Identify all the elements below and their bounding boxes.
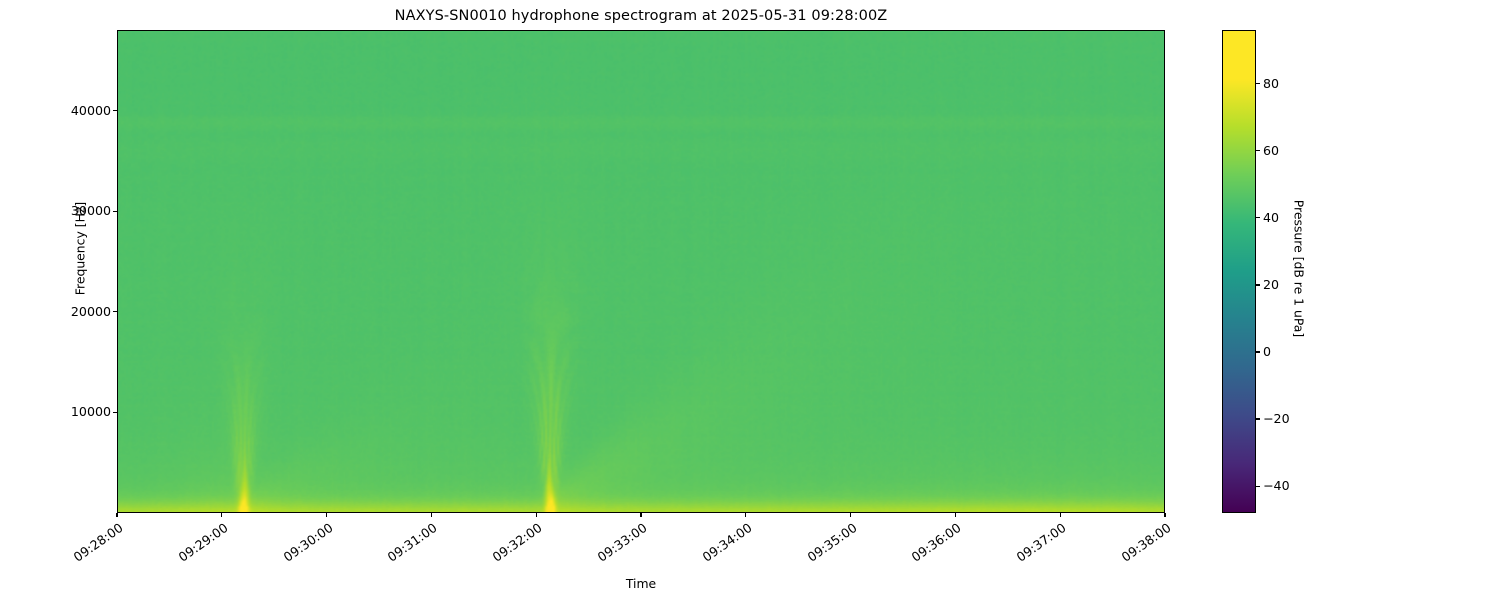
x-tick-label: 09:29:00	[158, 520, 230, 577]
colorbar-tick-label: 40	[1263, 209, 1279, 227]
spectrogram-image	[118, 31, 1164, 512]
y-tick-mark	[113, 412, 117, 413]
x-tick-mark	[116, 513, 117, 517]
colorbar-tick-mark	[1256, 83, 1260, 84]
x-tick-mark	[955, 513, 956, 517]
x-tick-label: 09:34:00	[682, 520, 754, 577]
x-tick-label: 09:36:00	[891, 520, 963, 577]
colorbar-label-wrap: Pressure [dB re 1 uPa]	[1290, 30, 1310, 513]
colorbar[interactable]	[1222, 30, 1256, 513]
colorbar-tick-mark	[1256, 486, 1260, 487]
x-tick-label: 09:38:00	[1101, 520, 1173, 577]
spectrogram-figure: NAXYS-SN0010 hydrophone spectrogram at 2…	[0, 0, 1500, 600]
x-tick-mark	[1060, 513, 1061, 517]
x-tick-mark	[536, 513, 537, 517]
colorbar-tick-mark	[1256, 418, 1260, 419]
x-tick-label: 09:35:00	[787, 520, 859, 577]
x-tick-mark	[431, 513, 432, 517]
y-tick-mark	[113, 211, 117, 212]
spectrogram-plot-area[interactable]	[117, 30, 1165, 513]
colorbar-tick-label: 20	[1263, 276, 1279, 294]
x-tick-label: 09:33:00	[577, 520, 649, 577]
x-tick-mark	[326, 513, 327, 517]
y-axis-label: Frequency [Hz]	[73, 19, 88, 479]
colorbar-tick-label: 80	[1263, 75, 1279, 93]
y-tick-mark	[113, 110, 117, 111]
colorbar-label: Pressure [dB re 1 uPa]	[1292, 39, 1307, 499]
colorbar-tick-label: −40	[1263, 477, 1290, 495]
colorbar-gradient	[1222, 30, 1256, 513]
x-tick-mark	[745, 513, 746, 517]
x-tick-label: 09:30:00	[263, 520, 335, 577]
y-axis-label-wrap: Frequency [Hz]	[46, 30, 66, 513]
x-tick-mark	[221, 513, 222, 517]
x-tick-label: 09:31:00	[367, 520, 439, 577]
x-tick-label: 09:32:00	[472, 520, 544, 577]
colorbar-tick-mark	[1256, 284, 1260, 285]
x-axis-label: Time	[117, 576, 1165, 591]
colorbar-tick-label: −20	[1263, 410, 1290, 428]
colorbar-tick-label: 0	[1263, 343, 1271, 361]
x-tick-mark	[640, 513, 641, 517]
colorbar-tick-mark	[1256, 351, 1260, 352]
colorbar-tick-mark	[1256, 217, 1260, 218]
y-tick-mark	[113, 311, 117, 312]
x-tick-label: 09:37:00	[996, 520, 1068, 577]
x-tick-mark	[850, 513, 851, 517]
colorbar-tick-mark	[1256, 150, 1260, 151]
x-tick-label: 09:28:00	[53, 520, 125, 577]
page-title: NAXYS-SN0010 hydrophone spectrogram at 2…	[117, 8, 1165, 24]
colorbar-tick-label: 60	[1263, 142, 1279, 160]
x-tick-mark	[1164, 513, 1165, 517]
